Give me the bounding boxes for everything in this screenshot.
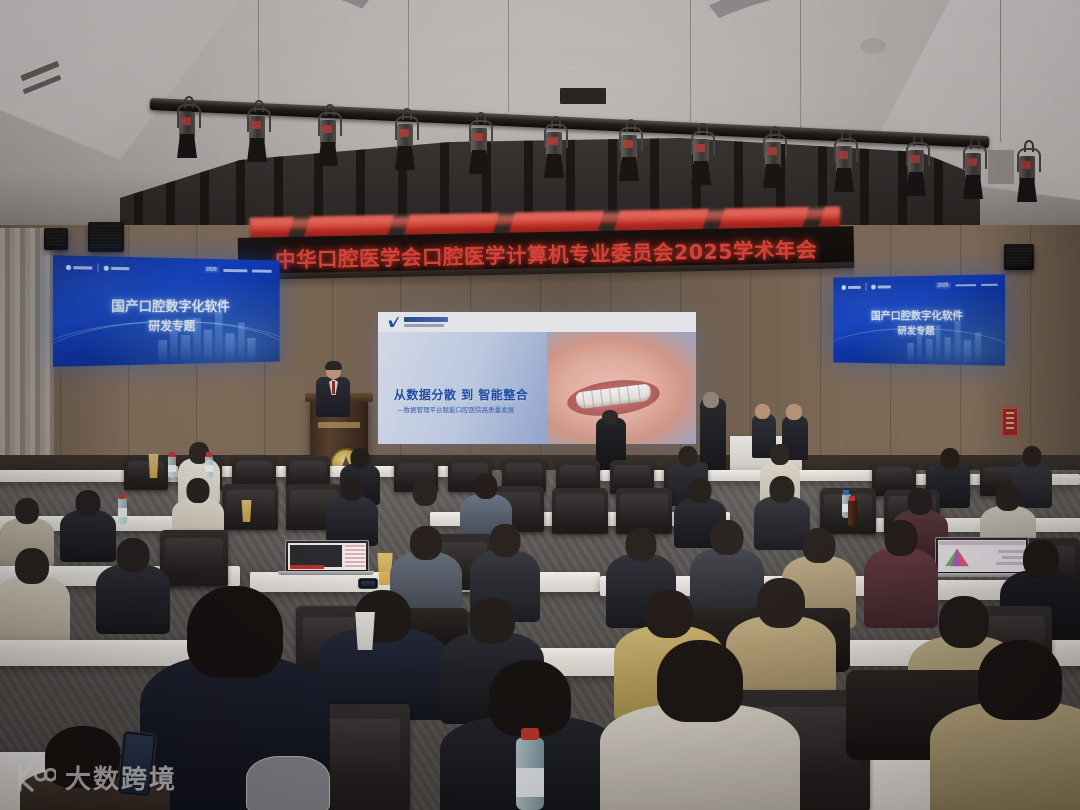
spotlight-icon [962,145,984,199]
audience-person-foreground [318,590,448,714]
screen-logo-group-left [841,283,890,292]
wall-speaker-left [88,222,124,252]
spotlight-icon [905,142,927,196]
slide-body: 从数据分散 到 智能整合 —数据管理平台赋能口腔医院高质量发展 [378,332,696,444]
water-bottle [205,456,213,478]
conference-photo-scene: 中华口腔医学会口腔医学计算机专业委员会2025学术年会 2025 [0,0,1080,810]
truss-wire-2 [408,0,409,108]
spotlight-icon [468,120,490,174]
ceiling-speaker-dot [860,38,886,54]
chair [124,456,168,490]
truss-wire-5 [800,0,801,128]
truss-wire-3 [508,0,509,112]
slide-header-bar [378,312,696,332]
exit-sign [1002,408,1018,436]
phone-on-table [358,578,378,589]
truss-wire-4 [690,0,691,122]
cola-bottle [848,500,857,526]
screen-logo-group-right: 2025 [936,282,998,289]
audience-person-foreground [930,640,1080,810]
chair [160,530,228,586]
spotlight-icon [762,134,784,188]
side-screen-right-title: 国产口腔数字化软件 研发专题 [833,309,1005,339]
water-bottle [118,498,127,524]
side-screen-left: 2025 国产口腔数字化软件 研发专题 [53,255,280,367]
presenter-person [316,362,350,414]
spotlight-icon [543,124,565,178]
water-bottle [168,456,176,478]
ceiling-vent-right [988,150,1014,184]
audience-person [326,476,378,542]
presenter-logo-wordmark [404,317,448,322]
spotlight-icon [690,131,712,185]
slide-subtitle: —数据管理平台赋能口腔医院高质量发展 [397,404,514,414]
screen-year-badge: 2025 [936,282,951,288]
screen-logo-group-right: 2025 [204,267,271,274]
av-staff-head [703,392,719,408]
truss-wire-6 [1000,0,1001,142]
spotlight-icon [246,108,268,162]
side-screen-right: 2025 国产口腔数字化软件 研发专题 [833,274,1005,365]
audience-person [0,548,70,646]
spotlight-icon [317,112,339,166]
screen-year-badge: 2025 [204,267,218,273]
side-screen-left-title: 国产口腔数字化软件 研发专题 [53,298,280,337]
dental-3d-model-icon [942,547,972,569]
camera-operator-head [602,410,618,424]
av-staff-right-head [786,404,802,420]
screen-logo-group-left [65,263,128,272]
av-staff-seated-head [755,404,770,419]
spotlight-icon [618,127,640,181]
laptop [285,540,367,582]
side-screen-right-line2: 研发专题 [833,324,1005,339]
side-screen-left-line2: 研发专题 [53,318,280,337]
ceiling-speaker-left [44,228,68,250]
spotlight-icon [1016,148,1038,202]
plastic-bag [246,756,330,810]
audience-person-foreground [600,640,800,810]
smartphone-held [117,730,158,797]
slide-title: 从数据分散 到 智能整合 [394,386,528,403]
spotlight-icon [176,104,198,158]
laptop-keyboard [278,571,373,575]
main-projection-screen: 从数据分散 到 智能整合 —数据管理平台赋能口腔医院高质量发展 [378,312,696,444]
podium-plaque [318,422,360,428]
ceiling-box [560,88,606,104]
wall-speaker-right [1004,244,1034,270]
side-screen-left-line1: 国产口腔数字化软件 [53,298,280,319]
truss-wire-1 [258,0,259,102]
laptop-screen [285,540,369,573]
chair [552,488,608,534]
presenter-logo-icon [387,316,400,328]
water-bottle-foreground [516,738,544,810]
presenter-logo-subtext [404,324,444,327]
side-screen-right-line1: 国产口腔数字化软件 [833,309,1005,325]
spotlight-icon [833,138,855,192]
spotlight-icon [394,116,416,170]
